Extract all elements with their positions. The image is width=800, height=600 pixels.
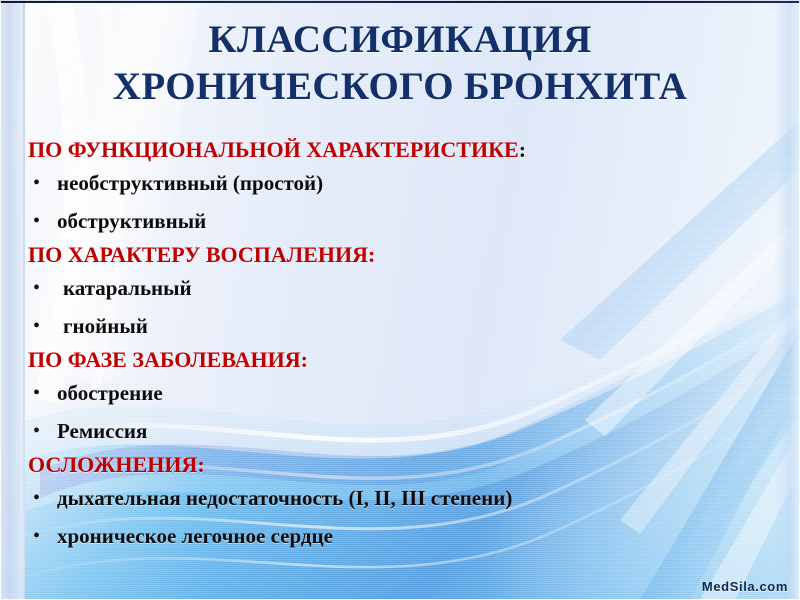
list-item-label: гнойный	[57, 308, 148, 344]
list-item: • гнойный	[28, 308, 773, 344]
section-heading: ОСЛОЖНЕНИЯ:	[28, 451, 773, 478]
classification-list: ПО ФУНКЦИОНАЛЬНОЙ ХАРАКТЕРИСТИКЕ: • необ…	[28, 136, 773, 556]
section-inflammation: ПО ХАРАКТЕРУ ВОСПАЛЕНИЯ: • катаральный •…	[28, 241, 773, 344]
page-title: КЛАССИФИКАЦИЯ ХРОНИЧЕСКОГО БРОНХИТА	[0, 16, 800, 110]
bullet-icon: •	[28, 518, 57, 554]
section-heading: ПО ХАРАКТЕРУ ВОСПАЛЕНИЯ:	[28, 241, 773, 268]
title-line-2: ХРОНИЧЕСКОГО БРОНХИТА	[0, 63, 800, 110]
title-line-1: КЛАССИФИКАЦИЯ	[208, 18, 591, 61]
list-item-label: необструктивный (простой)	[57, 165, 323, 201]
list-item: • обострение	[28, 375, 773, 411]
section-complications: ОСЛОЖНЕНИЯ: • дыхательная недостаточност…	[28, 451, 773, 554]
bullet-icon: •	[28, 203, 57, 239]
bullet-icon: •	[28, 165, 57, 201]
section-heading-text: ПО ХАРАКТЕРУ ВОСПАЛЕНИЯ:	[28, 242, 375, 267]
list-item-label: обструктивный	[57, 203, 206, 239]
list-item-label: хроническое легочное сердце	[57, 518, 333, 554]
list-item-label: Ремиссия	[57, 413, 147, 449]
section-heading-text: ОСЛОЖНЕНИЯ:	[28, 452, 205, 477]
list-item: • дыхательная недостаточность (I, II, II…	[28, 480, 773, 516]
section-heading-text: ПО ФАЗЕ ЗАБОЛЕВАНИЯ:	[28, 347, 308, 372]
list-item-label: дыхательная недостаточность (I, II, III …	[57, 480, 512, 516]
section-phase: ПО ФАЗЕ ЗАБОЛЕВАНИЯ: • обострение • Реми…	[28, 346, 773, 449]
list-item: • катаральный	[28, 270, 773, 306]
section-heading: ПО ФАЗЕ ЗАБОЛЕВАНИЯ:	[28, 346, 773, 373]
list-item: • необструктивный (простой)	[28, 165, 773, 201]
section-functional: ПО ФУНКЦИОНАЛЬНОЙ ХАРАКТЕРИСТИКЕ: • необ…	[28, 136, 773, 239]
slide-content: КЛАССИФИКАЦИЯ ХРОНИЧЕСКОГО БРОНХИТА ПО Ф…	[0, 0, 800, 600]
presentation-slide: КЛАССИФИКАЦИЯ ХРОНИЧЕСКОГО БРОНХИТА ПО Ф…	[0, 0, 800, 600]
list-item-label: обострение	[57, 375, 163, 411]
section-heading-text: ПО ФУНКЦИОНАЛЬНОЙ ХАРАКТЕРИСТИКЕ	[28, 137, 519, 162]
bullet-icon: •	[28, 375, 57, 411]
list-item: • Ремиссия	[28, 413, 773, 449]
list-item-label: катаральный	[57, 270, 192, 306]
list-item: • обструктивный	[28, 203, 773, 239]
bullet-icon: •	[28, 308, 57, 344]
bullet-icon: •	[28, 413, 57, 449]
section-heading: ПО ФУНКЦИОНАЛЬНОЙ ХАРАКТЕРИСТИКЕ:	[28, 136, 773, 163]
bullet-icon: •	[28, 480, 57, 516]
bullet-icon: •	[28, 270, 57, 306]
list-item: • хроническое легочное сердце	[28, 518, 773, 554]
section-heading-colon: :	[519, 137, 526, 162]
watermark: MedSila.com	[702, 579, 788, 594]
